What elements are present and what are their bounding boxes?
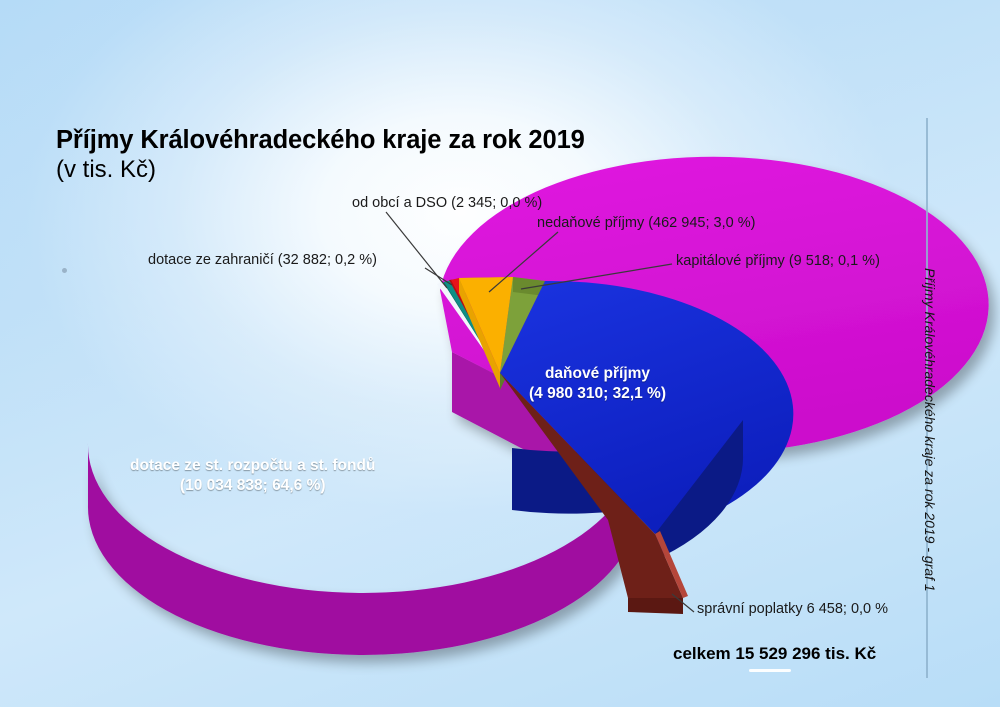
leader-nedanove [489, 232, 558, 292]
slice-label-danove-line2: (4 980 310; 32,1 %) [529, 384, 666, 404]
slice-dotace-ze-zahranici [441, 280, 500, 373]
callout-od-obci-dso: od obcí a DSO (2 345; 0,0 %) [352, 195, 542, 211]
chart-title-line2: (v tis. Kč) [56, 156, 585, 184]
slice-label-danove-prijmy: daňové příjmy (4 980 310; 32,1 %) [529, 364, 666, 404]
slice-label-dotace-line1: dotace ze st. rozpočtu a st. fondů [130, 456, 375, 476]
slice-label-danove-line1: daňové příjmy [529, 364, 666, 384]
slice-nedanove-prijmy [459, 277, 513, 388]
side-caption: Příjmy Královéhradeckého kraje za rok 20… [922, 268, 938, 592]
leader-kapitalove [521, 264, 672, 289]
slice-label-dotace-line2: (10 034 838; 64,6 %) [130, 476, 375, 496]
total-underline [749, 669, 791, 672]
callout-nedanove-prijmy: nedaňové příjmy (462 945; 3,0 %) [537, 215, 755, 231]
callout-kapitalove-prijmy: kapitálové příjmy (9 518; 0,1 %) [676, 253, 880, 269]
callout-spravni-poplatky: správní poplatky 6 458; 0,0 % [697, 601, 888, 617]
slice-od-obci-dso [449, 278, 500, 373]
slice-gap-sliver [437, 282, 500, 373]
callout-dotace-ze-zahranici: dotace ze zahraničí (32 882; 0,2 %) [148, 252, 377, 268]
slice-danove-prijmy [500, 281, 793, 560]
chart-canvas: Příjmy Královéhradeckého kraje za rok 20… [0, 0, 1000, 707]
slice-label-dotace-st-rozpoctu: dotace ze st. rozpočtu a st. fondů (10 0… [130, 456, 375, 496]
total-label: celkem 15 529 296 tis. Kč [673, 644, 876, 664]
slice-dotace-st-rozpoctu [88, 157, 989, 655]
leader-od-obci [386, 212, 447, 288]
leader-zahranici [425, 268, 452, 285]
chart-title: Příjmy Královéhradeckého kraje za rok 20… [56, 126, 585, 184]
slice-spravni-poplatky [500, 373, 688, 614]
leader-spravni [672, 594, 694, 612]
background-artifact-dot [62, 268, 67, 273]
chart-title-line1: Příjmy Královéhradeckého kraje za rok 20… [56, 126, 585, 156]
